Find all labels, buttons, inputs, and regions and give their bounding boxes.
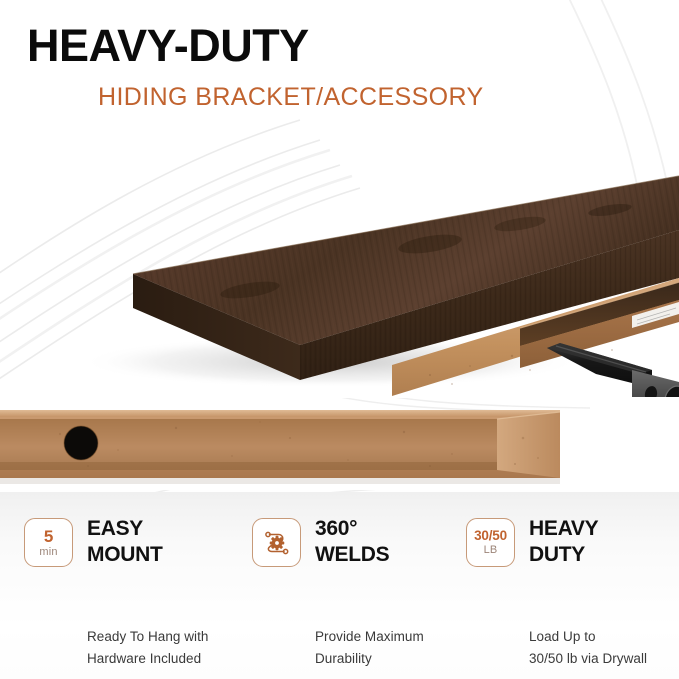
feature-header: 5 min EASY MOUNT [24,518,234,580]
feature-description: Provide Maximum Durability [315,626,424,670]
channel-closeup-image [0,398,679,490]
weld-path-gear-icon [252,518,301,567]
badge-unit: LB [484,545,498,556]
timer-badge-icon: 5 min [24,518,73,567]
product-infographic: HEAVY-DUTY HIDING BRACKET/ACCESSORY [0,0,679,679]
shelf-illustration [0,112,679,397]
feature-title: HEAVY DUTY [529,516,598,567]
feature-360-welds: 360° WELDS Provide Maximum Durability [252,518,452,580]
badge-value: 30/50 [474,529,507,543]
badge-value: 5 [44,528,53,545]
feature-description: Load Up to 30/50 lb via Drywall [529,626,647,670]
feature-easy-mount: 5 min EASY MOUNT Ready To Hang with Hard… [24,518,234,580]
feature-heavy-duty: 30/50 LB HEAVY DUTY Load Up to 30/50 lb … [466,518,671,580]
badge-unit: min [39,547,57,558]
feature-title: 360° WELDS [315,516,389,567]
weld-path-gear-glyph [261,527,293,559]
channel-illustration [0,398,679,490]
feature-title: EASY MOUNT [87,516,163,567]
header: HEAVY-DUTY HIDING BRACKET/ACCESSORY [0,0,679,128]
weight-capacity-badge-icon: 30/50 LB [466,518,515,567]
hero-product-image [0,112,679,397]
feature-header: 360° WELDS [252,518,452,580]
page-subtitle: HIDING BRACKET/ACCESSORY [98,85,484,110]
feature-description: Ready To Hang with Hardware Included [87,626,208,670]
feature-header: 30/50 LB HEAVY DUTY [466,518,671,580]
page-title: HEAVY-DUTY [27,23,309,68]
feature-highlights: 5 min EASY MOUNT Ready To Hang with Hard… [0,492,679,679]
